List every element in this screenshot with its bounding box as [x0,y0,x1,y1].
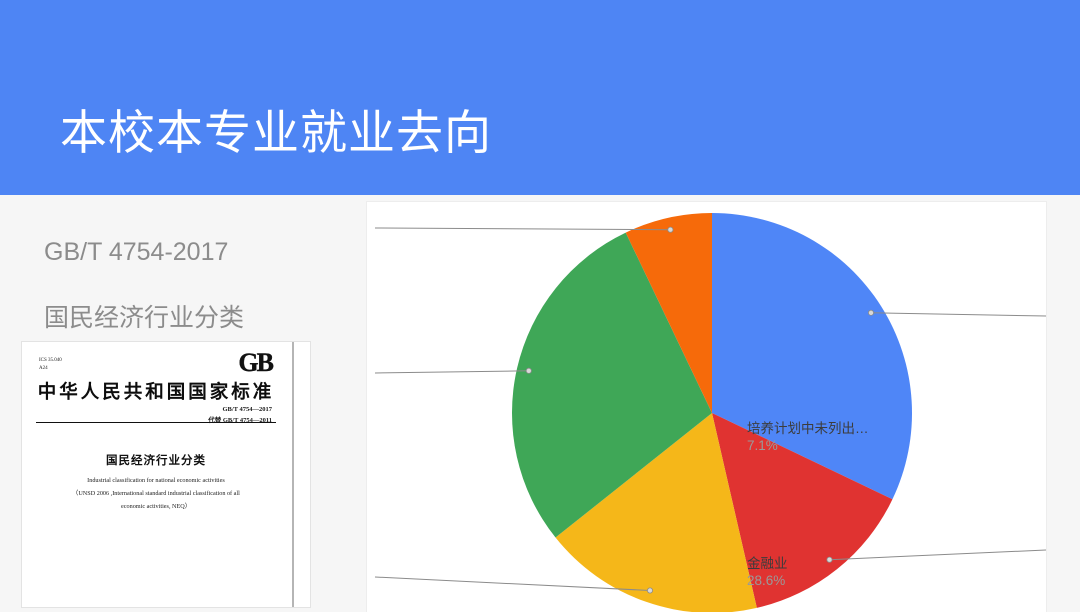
pie-leader-anchor-dot [526,368,531,373]
pie-leader-anchor-dot [668,227,673,232]
pie-leader-anchor-dot [647,588,652,593]
slide-header-band [0,0,1080,195]
pie-leader-line [375,228,670,230]
pie-chart-card[interactable]: 培养计划中未列出… 7.1% 金融业 28.6% 公共管理、社会保… 17.9%… [367,202,1046,612]
standard-document-thumbnail: ICS 35.040 A24 GB 中华人民共和国国家标准 GB/T 4754—… [22,342,310,607]
pie-leader-anchor-dot [827,557,832,562]
standard-code-label: GB/T 4754-2017 [44,238,228,267]
document-divider [36,422,276,423]
page-title: 本校本专业就业去向 [60,106,492,160]
document-title-en: Industrial classification for national e… [30,474,282,513]
document-page: ICS 35.040 A24 GB 中华人民共和国国家标准 GB/T 4754—… [22,342,294,607]
pie-leader-line [830,550,1047,560]
pie-leader-line [871,313,1046,316]
gb-logo-icon: GB [238,348,272,378]
standard-name-label: 国民经济行业分类 [44,298,244,334]
sidebar-panel: GB/T 4754-2017 国民经济行业分类 ICS 35.040 A24 G… [0,195,366,612]
document-title-en-line1: Industrial classification for national e… [30,474,282,487]
pie-slice-group [512,213,912,612]
pie-leader-line [375,371,529,373]
pie-label-percent: 28.6% [747,573,788,588]
document-title-cn: 国民经济行业分类 [22,452,290,468]
document-national-header: 中华人民共和国国家标准 [22,378,290,404]
pie-label-peiyangjihua: 培养计划中未列出… 7.1% [747,417,869,453]
document-ics-code: ICS 35.040 A24 [39,357,62,372]
document-title-en-line3: economic activities, NEQ） [30,500,282,513]
pie-label-name: 金融业 [747,552,788,572]
pie-chart-svg[interactable] [367,202,1046,612]
pie-leader-anchor-dot [868,310,873,315]
pie-label-percent: 7.1% [747,438,869,453]
slide-canvas: 本校本专业就业去向 GB/T 4754-2017 国民经济行业分类 ICS 35… [0,0,1080,612]
pie-label-name: 培养计划中未列出… [747,417,869,437]
document-title-en-line2: （UNSD 2006 ,International standard indus… [30,487,282,500]
pie-label-jinrongye: 金融业 28.6% [747,552,788,588]
